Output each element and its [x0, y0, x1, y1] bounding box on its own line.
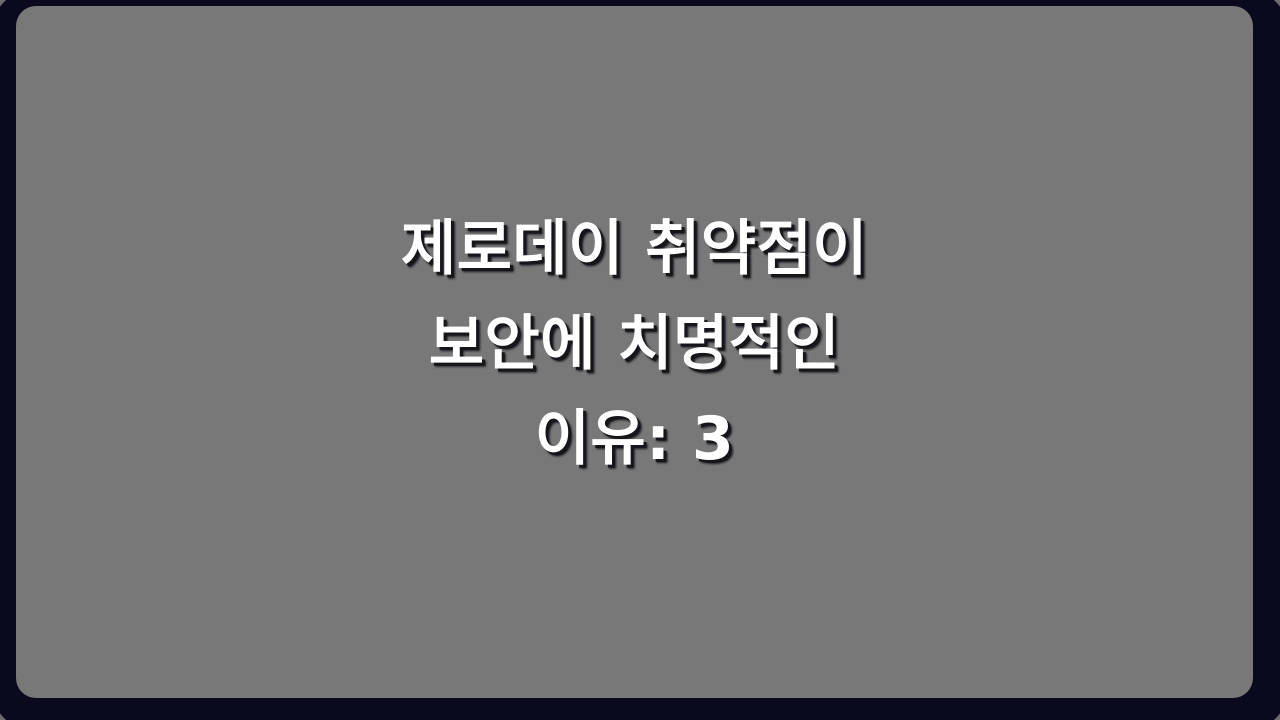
slide-frame-border: 제로데이 취약점이 보안에 치명적인 이유: 3	[0, 0, 1280, 720]
slide-content-card: 제로데이 취약점이 보안에 치명적인 이유: 3	[16, 6, 1253, 698]
headline-block: 제로데이 취약점이 보안에 치명적인 이유: 3	[400, 202, 870, 487]
slide-canvas: 제로데이 취약점이 보안에 치명적인 이유: 3	[0, 0, 1280, 720]
page-title: 제로데이 취약점이 보안에 치명적인 이유: 3	[400, 202, 870, 487]
